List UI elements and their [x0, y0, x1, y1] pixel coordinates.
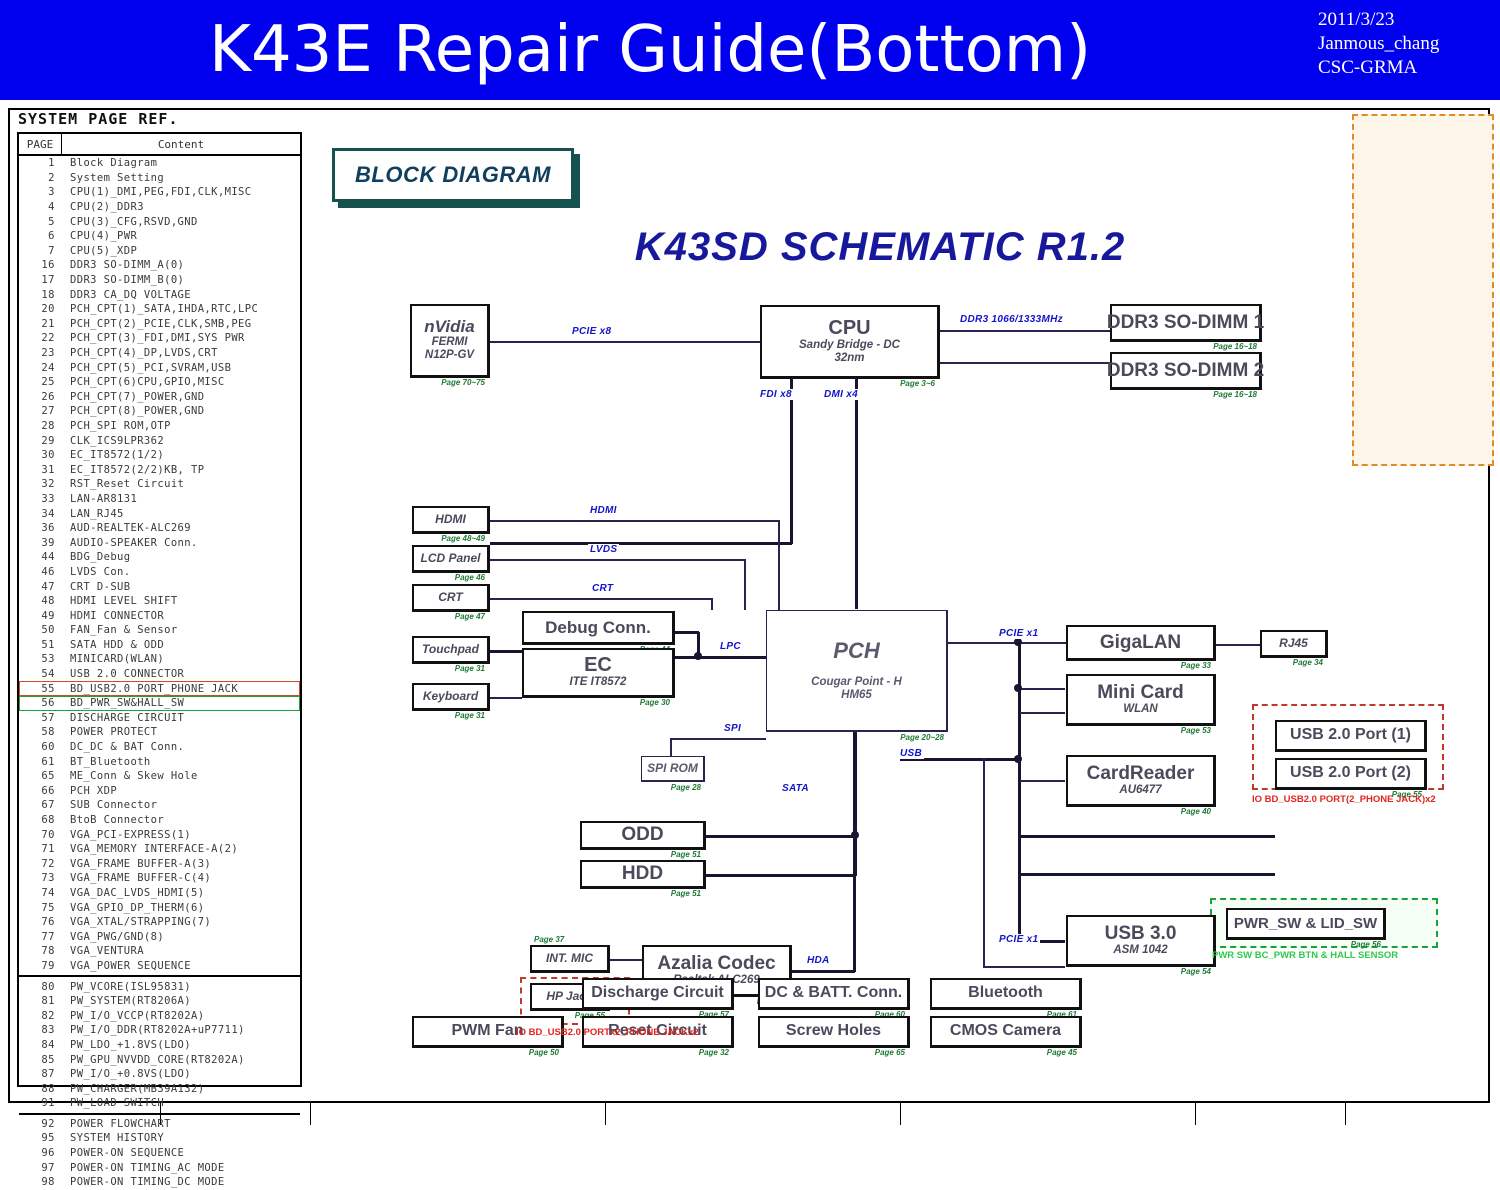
sysref-row-page: 82 [19, 1010, 61, 1022]
wire-touchpad-ec [490, 650, 522, 653]
sysref-row-page: 75 [19, 902, 61, 914]
sysref-row-content: BDG_Debug [61, 551, 300, 563]
sysref-row-content: Block Diagram [61, 157, 300, 169]
sysref-row[interactable]: 95SYSTEM HISTORY [19, 1131, 300, 1146]
sysref-row-content: CPU(2)_DDR3 [61, 201, 300, 213]
block-cpu-sub2: 32nm [834, 352, 864, 365]
sysref-row[interactable]: 58POWER PROTECT [19, 725, 300, 740]
sysref-row-content: EC_IT8572(1/2) [61, 449, 300, 461]
sysref-row[interactable]: 26PCH_CPT(7)_POWER,GND [19, 390, 300, 405]
sysref-row-page: 30 [19, 449, 61, 461]
sysref-row[interactable]: 28PCH_SPI ROM,OTP [19, 419, 300, 434]
sysref-row[interactable]: 18DDR3 CA_DQ VOLTAGE [19, 287, 300, 302]
sysref-row[interactable]: 22PCH_CPT(3)_FDI,DMI,SYS PWR [19, 331, 300, 346]
usb-io-board-note: IO BD_USB2.0 PORT(2_PHONE JACK)x2 [1252, 794, 1436, 805]
sysref-row-page: 32 [19, 478, 61, 490]
block-dimm1-title: DDR3 SO-DIMM 1 [1107, 313, 1264, 333]
block-debug-conn[interactable]: Debug Conn. Page 44 [522, 611, 675, 645]
sysref-row[interactable]: 60DC_DC & BAT Conn. [19, 740, 300, 755]
sysref-row-content: VGA_VENTURA [61, 945, 300, 957]
wire-spi-h [672, 738, 766, 740]
sysref-row-page: 55 [19, 683, 61, 695]
sysref-row[interactable]: 56BD_PWR_SW&HALL_SW [19, 696, 300, 711]
sysref-row[interactable]: 98POWER-ON TIMING_DC MODE [19, 1175, 300, 1190]
sysref-row-content: PCH XDP [61, 785, 300, 797]
block-hdmi-title: HDMI [435, 513, 466, 526]
block-usb20-port-2[interactable]: USB 2.0 Port (2) Page 55 [1275, 758, 1427, 790]
sysref-row-content: BT_Bluetooth [61, 756, 300, 768]
block-rj45-page: Page 34 [1293, 658, 1323, 667]
sysref-row-page: 5 [19, 216, 61, 228]
block-crt-title: CRT [438, 591, 462, 604]
schematic-title: K43SD SCHEMATIC R1.2 [560, 225, 1200, 270]
sysref-row-content: VGA_PWG/GND(8) [61, 931, 300, 943]
sysref-row[interactable]: 66PCH XDP [19, 784, 300, 799]
wire-dmi [855, 379, 858, 609]
sysref-row[interactable]: 83PW_I/O_DDR(RT8202A+uP7711) [19, 1023, 300, 1038]
block-touchpad-page: Page 31 [455, 664, 485, 673]
sysref-row-content: PCH_CPT(6)CPU,GPIO,MISC [61, 376, 300, 388]
block-screw-holes[interactable]: Screw Holes Page 65 [758, 1016, 910, 1048]
sysref-row[interactable]: 1Block Diagram [19, 156, 300, 171]
wire-hda [790, 970, 855, 973]
power-group-box [1352, 114, 1494, 466]
block-discharge-title: Discharge Circuit [591, 985, 723, 1002]
sysref-separator [19, 1113, 300, 1115]
tick-mark [1345, 1103, 1346, 1125]
sysref-row-page: 97 [19, 1162, 61, 1174]
sysref-row-page: 60 [19, 741, 61, 753]
sysref-row[interactable]: 49HDMI CONNECTOR [19, 608, 300, 623]
block-touchpad[interactable]: Touchpad Page 31 [412, 636, 490, 664]
sysref-row-content: PW_I/O_+0.8VS(LDO) [61, 1068, 300, 1080]
sysref-row-page: 33 [19, 493, 61, 505]
sysref-row-page: 7 [19, 245, 61, 257]
tick-mark [605, 1103, 606, 1125]
block-ec-title: EC [584, 655, 612, 676]
wire-hdmi-v [778, 520, 780, 610]
signal-fdi: FDI x8 [758, 389, 794, 400]
sysref-row[interactable]: 24PCH_CPT(5)_PCI,SVRAM,USB [19, 360, 300, 375]
sysref-row-page: 49 [19, 610, 61, 622]
block-keyboard[interactable]: Keyboard Page 31 [412, 683, 490, 711]
block-intmic-title: INT. MIC [546, 952, 593, 965]
wire-fdi-hdmi [490, 542, 792, 545]
signal-hda: HDA [805, 955, 832, 966]
sysref-row-content: EC_IT8572(2/2)KB, TP [61, 464, 300, 476]
sysref-row-page: 2 [19, 172, 61, 184]
sysref-row-content: PW_CHARGER(MB39A132) [61, 1083, 300, 1095]
sysref-row-content: SUB Connector [61, 799, 300, 811]
sysref-row-content: DDR3 CA_DQ VOLTAGE [61, 289, 300, 301]
sysref-row-page: 17 [19, 274, 61, 286]
sysref-row-content: CPU(5)_XDP [61, 245, 300, 257]
block-cpu-sub1: Sandy Bridge - DC [799, 339, 900, 352]
block-cpu-page: Page 3~6 [900, 379, 935, 388]
signal-dmi: DMI x4 [822, 389, 860, 400]
block-keyboard-title: Keyboard [423, 690, 478, 703]
sysref-row-page: 29 [19, 435, 61, 447]
sysref-row-content: PW_I/O_VCCP(RT8202A) [61, 1010, 300, 1022]
sysref-row[interactable]: 84PW_LDO_+1.8VS(LDO) [19, 1038, 300, 1053]
sysref-row[interactable]: 67SUB Connector [19, 798, 300, 813]
wire-lvds [490, 559, 745, 561]
sysref-row-content: System Setting [61, 172, 300, 184]
tick-mark [900, 1103, 901, 1125]
sysref-row[interactable]: 68BtoB Connector [19, 813, 300, 828]
block-cpu-title: CPU [828, 318, 870, 339]
block-gigalan-page: Page 33 [1181, 661, 1211, 670]
wire-ddr3-a [940, 330, 1110, 332]
sysref-row[interactable]: 17DDR3 SO-DIMM_B(0) [19, 273, 300, 288]
block-rj45[interactable]: RJ45 Page 34 [1260, 630, 1328, 658]
block-ddr3-sodimm-2[interactable]: DDR3 SO-DIMM 2 Page 16~18 [1110, 352, 1262, 390]
block-usb3-sub: ASM 1042 [1113, 944, 1167, 957]
block-hdd[interactable]: HDD Page 51 [580, 860, 706, 889]
junction-dot [1014, 755, 1022, 763]
block-gigalan[interactable]: GigaLAN Page 33 [1066, 625, 1216, 661]
block-hdmi-page: Page 48~49 [441, 534, 485, 543]
header-org: CSC-GRMA [1318, 56, 1439, 80]
sysref-row-content: PCH_CPT(3)_FDI,DMI,SYS PWR [61, 332, 300, 344]
sysref-row-page: 84 [19, 1039, 61, 1051]
sysref-row-page: 87 [19, 1068, 61, 1080]
sysref-row[interactable]: 72VGA_FRAME BUFFER-A(3) [19, 857, 300, 872]
block-odd-page: Page 51 [671, 850, 701, 859]
sysref-row-content: DDR3 SO-DIMM_A(0) [61, 259, 300, 271]
sysref-row[interactable]: 36AUD-REALTEK-ALC269 [19, 521, 300, 536]
sysref-row[interactable]: 74VGA_DAC_LVDS_HDMI(5) [19, 886, 300, 901]
sysref-row-page: 71 [19, 843, 61, 855]
sysref-row-page: 67 [19, 799, 61, 811]
wire-pcie-usb3-v [983, 758, 985, 968]
block-nvidia[interactable]: nVidia FERMI N12P-GV Page 70~75 [410, 304, 490, 378]
block-pwrsw-page: Page 56 [1351, 940, 1381, 949]
sysref-row-content: DC_DC & BAT Conn. [61, 741, 300, 753]
sysref-row-content: LAN-AR8131 [61, 493, 300, 505]
block-diagram-label: BLOCK DIAGRAM [355, 162, 551, 188]
sysref-col-content: Content [62, 138, 300, 151]
sysref-row-content: PCH_CPT(7)_POWER,GND [61, 391, 300, 403]
junction-dot [1014, 684, 1022, 692]
wire-lvds-v [744, 559, 746, 610]
sysref-row-content: DISCHARGE CIRCUIT [61, 712, 300, 724]
sysref-row-page: 79 [19, 960, 61, 972]
sysref-row-content: PW_GPU_NVVDD_CORE(RT8202A) [61, 1054, 300, 1066]
sysref-row-page: 95 [19, 1132, 61, 1144]
signal-lpc: LPC [718, 641, 743, 652]
sysref-row[interactable]: 55BD_USB2.0 PORT_PHONE JACK [19, 681, 300, 696]
block-nvidia-sub1: FERMI [432, 336, 468, 349]
sysref-row[interactable]: 97POWER-ON TIMING_AC MODE [19, 1160, 300, 1175]
sysref-row[interactable]: 47CRT D-SUB [19, 579, 300, 594]
sysref-row-content: PCH_SPI ROM,OTP [61, 420, 300, 432]
block-crt[interactable]: CRT Page 47 [412, 584, 490, 612]
sysref-row[interactable]: 25PCH_CPT(6)CPU,GPIO,MISC [19, 375, 300, 390]
block-hdd-title: HDD [622, 864, 663, 884]
sysref-row[interactable]: 79VGA_POWER SEQUENCE [19, 959, 300, 974]
block-cardreader[interactable]: CardReader AU6477 Page 40 [1066, 755, 1216, 807]
sysref-row[interactable]: 78VGA_VENTURA [19, 944, 300, 959]
sysref-row-page: 6 [19, 230, 61, 242]
sysref-row-content: POWER-ON TIMING_AC MODE [61, 1162, 300, 1174]
sysref-row-content: PCH_CPT(8)_POWER,GND [61, 405, 300, 417]
sysref-row[interactable]: 50FAN_Fan & Sensor [19, 623, 300, 638]
sysref-row[interactable]: 29CLK_ICS9LPR362 [19, 433, 300, 448]
sysref-row-page: 70 [19, 829, 61, 841]
junction-dot [1014, 638, 1022, 646]
sysref-row[interactable]: 2System Setting [19, 171, 300, 186]
sysref-row-page: 46 [19, 566, 61, 578]
block-cardreader-title: CardReader [1087, 764, 1195, 784]
block-bluetooth-title: Bluetooth [968, 985, 1043, 1002]
sysref-row-content: PCH_CPT(2)_PCIE,CLK,SMB,PEG [61, 318, 300, 330]
tick-mark [1195, 1103, 1196, 1125]
sysref-box: PAGE Content 1Block Diagram2System Setti… [17, 132, 302, 1087]
sysref-row-content: VGA_MEMORY INTERFACE-A(2) [61, 843, 300, 855]
block-minicard-sub: WLAN [1123, 703, 1158, 716]
sysref-row[interactable]: 7CPU(5)_XDP [19, 244, 300, 259]
junction-dot [694, 652, 702, 660]
signal-ddr3: DDR3 1066/1333MHz [958, 314, 1065, 325]
wire-hdd [706, 874, 856, 877]
sysref-row-page: 65 [19, 770, 61, 782]
sysref-row-content: LVDS Con. [61, 566, 300, 578]
sysref-row[interactable]: 33LAN-AR8131 [19, 492, 300, 507]
sysref-row[interactable]: 23PCH_CPT(4)_DP,LVDS,CRT [19, 346, 300, 361]
sysref-row-content: BD_USB2.0 PORT_PHONE JACK [61, 683, 300, 695]
block-minicard-page: Page 53 [1181, 726, 1211, 735]
sysref-row-page: 58 [19, 726, 61, 738]
sysref-rows: 1Block Diagram2System Setting3CPU(1)_DMI… [19, 156, 300, 1190]
sysref-row[interactable]: 92POWER FLOWCHART [19, 1117, 300, 1132]
sysref-row[interactable]: 77VGA_PWG/GND(8) [19, 929, 300, 944]
block-pch-sub1: Cougar Point - H [811, 676, 902, 689]
block-touchpad-title: Touchpad [422, 643, 479, 656]
sysref-row[interactable]: 44BDG_Debug [19, 550, 300, 565]
block-usb30[interactable]: USB 3.0 ASM 1042 Page 54 [1066, 915, 1216, 967]
sysref-row[interactable]: 20PCH_CPT(1)_SATA,IHDA,RTC,LPC [19, 302, 300, 317]
sysref-row-content: VGA_DAC_LVDS_HDMI(5) [61, 887, 300, 899]
sysref-row[interactable]: 4CPU(2)_DDR3 [19, 200, 300, 215]
sysref-row-content: PW_VCORE(ISL95831) [61, 981, 300, 993]
sysref-row-page: 68 [19, 814, 61, 826]
sysref-row-content: POWER-ON SEQUENCE [61, 1147, 300, 1159]
signal-hdmi: HDMI [588, 505, 619, 516]
sysref-row-page: 26 [19, 391, 61, 403]
sysref-row-content: PW_LDO_+1.8VS(LDO) [61, 1039, 300, 1051]
sysref-row[interactable]: 85PW_GPU_NVVDD_CORE(RT8202A) [19, 1052, 300, 1067]
block-bluetooth[interactable]: Bluetooth Page 61 [930, 978, 1082, 1010]
sysref-row[interactable]: 6CPU(4)_PWR [19, 229, 300, 244]
block-pwr-sw-lid-sw[interactable]: PWR_SW & LID_SW Page 56 [1226, 908, 1386, 940]
sysref-row-content: MINICARD(WLAN) [61, 653, 300, 665]
sysref-row-content: VGA_FRAME BUFFER-C(4) [61, 872, 300, 884]
block-ddr3-sodimm-1[interactable]: DDR3 SO-DIMM 1 Page 16~18 [1110, 304, 1262, 342]
sysref-row-page: 51 [19, 639, 61, 651]
block-hdmi[interactable]: HDMI Page 48~49 [412, 506, 490, 534]
sysref-row-content: PCH_CPT(5)_PCI,SVRAM,USB [61, 362, 300, 374]
sysref-row-page: 22 [19, 332, 61, 344]
block-dimm1-page: Page 16~18 [1213, 342, 1257, 351]
wire-usb-port1 [1020, 835, 1275, 838]
block-usb3-page: Page 54 [1181, 967, 1211, 976]
block-dcbatt-title: DC & BATT. Conn. [765, 985, 902, 1002]
sysref-row[interactable]: 21PCH_CPT(2)_PCIE,CLK,SMB,PEG [19, 317, 300, 332]
sysref-row[interactable]: 80PW_VCORE(ISL95831) [19, 979, 300, 994]
sysref-row-page: 77 [19, 931, 61, 943]
block-odd[interactable]: ODD Page 51 [580, 821, 706, 850]
sysref-row[interactable]: 48HDMI LEVEL SHIFT [19, 594, 300, 609]
signal-usb: USB [898, 748, 924, 759]
sysref-row-content: VGA_POWER SEQUENCE [61, 960, 300, 972]
block-pch[interactable]: PCH Cougar Point - H HM65 Page 20~28 [766, 610, 948, 732]
block-azalia-title: Azalia Codec [657, 954, 775, 974]
sysref-row-content: POWER-ON TIMING_DC MODE [61, 1176, 300, 1188]
wire-minicard-2 [1020, 712, 1065, 714]
wire-ddr3-b [940, 362, 1110, 364]
sysref-row[interactable]: 87PW_I/O_+0.8VS(LDO) [19, 1067, 300, 1082]
sysref-row[interactable]: 51SATA HDD & ODD [19, 638, 300, 653]
sysref-row-content: PW_I/O_DDR(RT8202A+uP7711) [61, 1024, 300, 1036]
block-screw-page: Page 65 [875, 1048, 905, 1057]
block-keyboard-page: Page 31 [455, 711, 485, 720]
sysref-row[interactable]: 65ME_Conn & Skew Hole [19, 769, 300, 784]
sysref-row-page: 78 [19, 945, 61, 957]
block-lcd-panel[interactable]: LCD Panel Page 46 [412, 545, 490, 573]
block-pch-title: PCH [833, 639, 879, 662]
sysref-row[interactable]: 96POWER-ON SEQUENCE [19, 1146, 300, 1161]
block-int-mic[interactable]: INT. MIC Page 37 [530, 945, 610, 973]
block-mini-card[interactable]: Mini Card WLAN Page 53 [1066, 674, 1216, 726]
sysref-row-content: DDR3 SO-DIMM_B(0) [61, 274, 300, 286]
sysref-row-page: 23 [19, 347, 61, 359]
sysref-row[interactable]: 27PCH_CPT(8)_POWER,GND [19, 404, 300, 419]
sysref-row[interactable]: 88PW_CHARGER(MB39A132) [19, 1081, 300, 1096]
sysref-row[interactable]: 5CPU(3)_CFG,RSVD,GND [19, 214, 300, 229]
wire-odd [706, 835, 856, 838]
sysref-row-content: CRT D-SUB [61, 581, 300, 593]
block-usb1-title: USB 2.0 Port (1) [1290, 727, 1411, 744]
block-usb2-title: USB 2.0 Port (2) [1290, 765, 1411, 782]
sysref-row-page: 3 [19, 186, 61, 198]
sysref-row[interactable]: 30EC_IT8572(1/2) [19, 448, 300, 463]
sysref-row-page: 20 [19, 303, 61, 315]
signal-crt: CRT [590, 583, 615, 594]
tick-mark [310, 1103, 311, 1125]
sysref-row[interactable]: 71VGA_MEMORY INTERFACE-A(2) [19, 842, 300, 857]
block-intmic-page: Page 37 [534, 935, 564, 944]
block-usb20-port-1[interactable]: USB 2.0 Port (1) [1275, 720, 1427, 752]
sysref-row-content: BtoB Connector [61, 814, 300, 826]
wire-hda-v [853, 732, 856, 972]
sysref-row-page: 54 [19, 668, 61, 680]
header-author: Janmous_chang [1318, 32, 1439, 56]
block-hdd-page: Page 51 [671, 889, 701, 898]
sysref-row-content: POWER FLOWCHART [61, 1118, 300, 1130]
sysref-row-page: 48 [19, 595, 61, 607]
sysref-row-content: PW_LOAD SWITCH [61, 1097, 300, 1109]
sysref-row-page: 81 [19, 995, 61, 1007]
block-usb3-title: USB 3.0 [1105, 924, 1177, 944]
sysref-row[interactable]: 70VGA_PCI-EXPRESS(1) [19, 827, 300, 842]
block-cpu[interactable]: CPU Sandy Bridge - DC 32nm Page 3~6 [760, 305, 940, 379]
wire-cardreader [1020, 780, 1065, 782]
sysref-row[interactable]: 57DISCHARGE CIRCUIT [19, 711, 300, 726]
sysref-row-page: 66 [19, 785, 61, 797]
sysref-row[interactable]: 61BT_Bluetooth [19, 754, 300, 769]
block-spi-rom[interactable]: SPI ROM Page 28 [641, 756, 705, 782]
sysref-row-content: BD_PWR_SW&HALL_SW [61, 697, 300, 709]
block-cmos-camera[interactable]: CMOS Camera Page 45 [930, 1016, 1082, 1048]
sysref-row-content: VGA_GPIO_DP_THERM(6) [61, 902, 300, 914]
sysref-row[interactable]: 54USB 2.0 CONNECTOR [19, 667, 300, 682]
sysref-row-content: HDMI LEVEL SHIFT [61, 595, 300, 607]
title-bar: K43E Repair Guide(Bottom) 2011/3/23 Janm… [0, 0, 1500, 100]
sysref-row[interactable]: 31EC_IT8572(2/2)KB, TP [19, 462, 300, 477]
sysref-row[interactable]: 16DDR3 SO-DIMM_A(0) [19, 258, 300, 273]
sysref-row-content: SYSTEM HISTORY [61, 1132, 300, 1144]
sysref-row-page: 28 [19, 420, 61, 432]
sysref-row[interactable]: 3CPU(1)_DMI,PEG,FDI,CLK,MISC [19, 185, 300, 200]
sysref-row-content: AUDIO-SPEAKER Conn. [61, 537, 300, 549]
sysref-row-page: 31 [19, 464, 61, 476]
sysref-row[interactable]: 32RST_Reset Circuit [19, 477, 300, 492]
block-odd-title: ODD [621, 825, 663, 845]
sysref-row[interactable]: 39AUDIO-SPEAKER Conn. [19, 535, 300, 550]
audio-io-board-note: IO BD_USB2.0 PORTx2_PHONE JACKx2 [516, 1027, 699, 1038]
sysref-row[interactable]: 46LVDS Con. [19, 565, 300, 580]
sysref-row-page: 76 [19, 916, 61, 928]
wire-debug-h [675, 631, 699, 634]
sysref-row-content: CPU(3)_CFG,RSVD,GND [61, 216, 300, 228]
sysref-row-page: 85 [19, 1054, 61, 1066]
sysref-row-content: CPU(1)_DMI,PEG,FDI,CLK,MISC [61, 186, 300, 198]
block-dc-batt-conn[interactable]: DC & BATT. Conn. Page 60 [758, 978, 910, 1010]
wire-rj45 [1215, 644, 1260, 646]
block-dimm2-page: Page 16~18 [1213, 390, 1257, 399]
sysref-row[interactable]: 91PW_LOAD SWITCH [19, 1096, 300, 1111]
block-ec[interactable]: EC ITE IT8572 Page 30 [522, 648, 675, 698]
block-nvidia-title: nVidia [424, 318, 474, 336]
sysref-row-content: VGA_FRAME BUFFER-A(3) [61, 858, 300, 870]
sysref-row[interactable]: 81PW_SYSTEM(RT8206A) [19, 994, 300, 1009]
sysref-row-page: 4 [19, 201, 61, 213]
wire-hdmi [490, 520, 780, 522]
signal-pcie-x1-lan: PCIE x1 [997, 628, 1040, 639]
wire-pcie-lan [948, 642, 1066, 644]
sysref-row-page: 72 [19, 858, 61, 870]
sysref-row[interactable]: 34LAN_RJ45 [19, 506, 300, 521]
block-diagram-badge: BLOCK DIAGRAM [332, 148, 574, 202]
sysref-row-content: SATA HDD & ODD [61, 639, 300, 651]
block-rj45-title: RJ45 [1279, 637, 1308, 650]
block-discharge-circuit[interactable]: Discharge Circuit Page 57 [582, 978, 734, 1010]
sysref-row-page: 24 [19, 362, 61, 374]
wire-pcie-usb3 [985, 966, 1065, 968]
sysref-row-page: 57 [19, 712, 61, 724]
sysref-row[interactable]: 76VGA_XTAL/STRAPPING(7) [19, 915, 300, 930]
wire-crt-v [711, 598, 713, 610]
sysref-row[interactable]: 53MINICARD(WLAN) [19, 652, 300, 667]
sysref-row[interactable]: 75VGA_GPIO_DP_THERM(6) [19, 900, 300, 915]
block-pch-page: Page 20~28 [900, 733, 944, 742]
sysref-row-page: 39 [19, 537, 61, 549]
sysref-row-page: 98 [19, 1176, 61, 1188]
sysref-row-content: ME_Conn & Skew Hole [61, 770, 300, 782]
sysref-row[interactable]: 73VGA_FRAME BUFFER-C(4) [19, 871, 300, 886]
sysref-row[interactable]: 82PW_I/O_VCCP(RT8202A) [19, 1008, 300, 1023]
